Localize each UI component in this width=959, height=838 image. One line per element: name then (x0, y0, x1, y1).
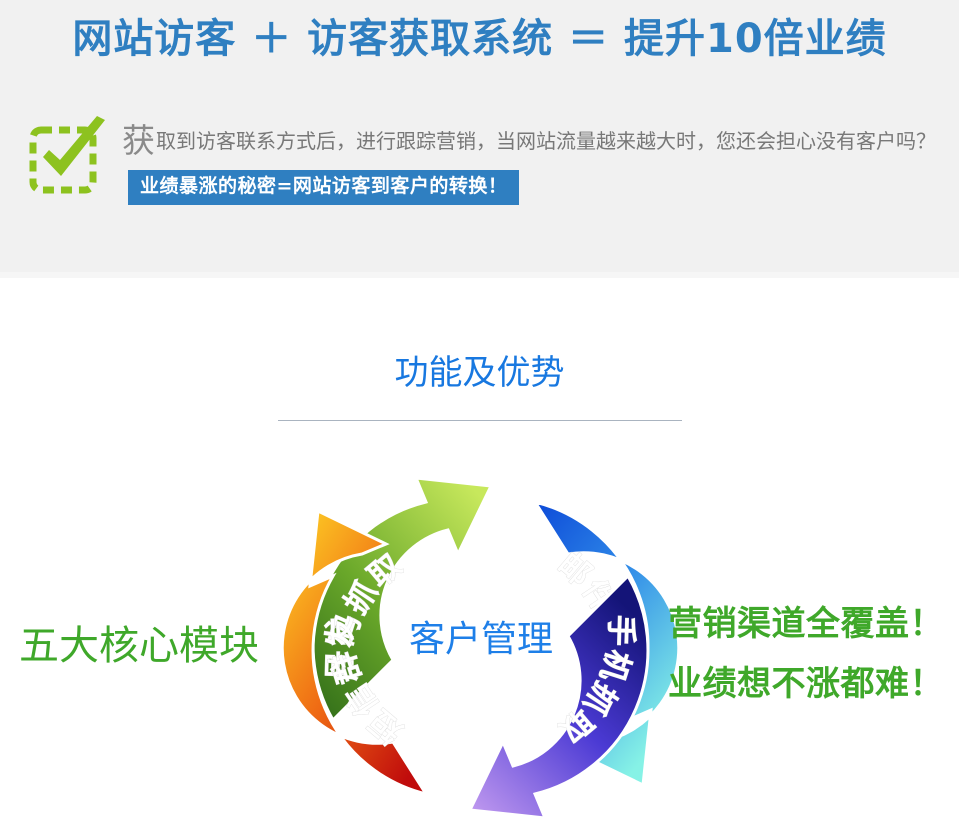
section-divider (278, 420, 682, 421)
left-caption: 五大核心模块 (8, 613, 270, 671)
segment-mobile-capture: 手机抓取 (470, 576, 648, 818)
section-title: 功能及优势 (0, 345, 959, 394)
intro-paragraph: 获取到访客联系方式后，进行跟踪营销，当网站流量越来越大时，您还会担心没有客户吗？… (122, 118, 942, 210)
right-caption-line-2: 业绩想不涨都难！ (668, 658, 953, 710)
cycle-diagram: 号码抓取 邮件群发 手机抓取 短信群发 客户管理 (276, 458, 686, 838)
highlight-badge: 业绩暴涨的秘密=网站访客到客户的转换！ (128, 170, 519, 205)
intro-body-text: 取到访客联系方式后，进行跟踪营销，当网站流量越来越大时，您还会担心没有客户吗？ (156, 129, 936, 153)
page-headline: 网站访客 ＋ 访客获取系统 ＝ 提升10倍业绩 (0, 6, 959, 64)
panel-fade-edge (0, 272, 959, 278)
right-caption-line-1: 营销渠道全覆盖！ (668, 598, 953, 650)
green-dashed-checkmark-icon (27, 114, 111, 198)
right-captions: 营销渠道全覆盖！ 业绩想不涨都难！ (668, 598, 953, 710)
intro-lead-character: 获 (122, 121, 155, 160)
